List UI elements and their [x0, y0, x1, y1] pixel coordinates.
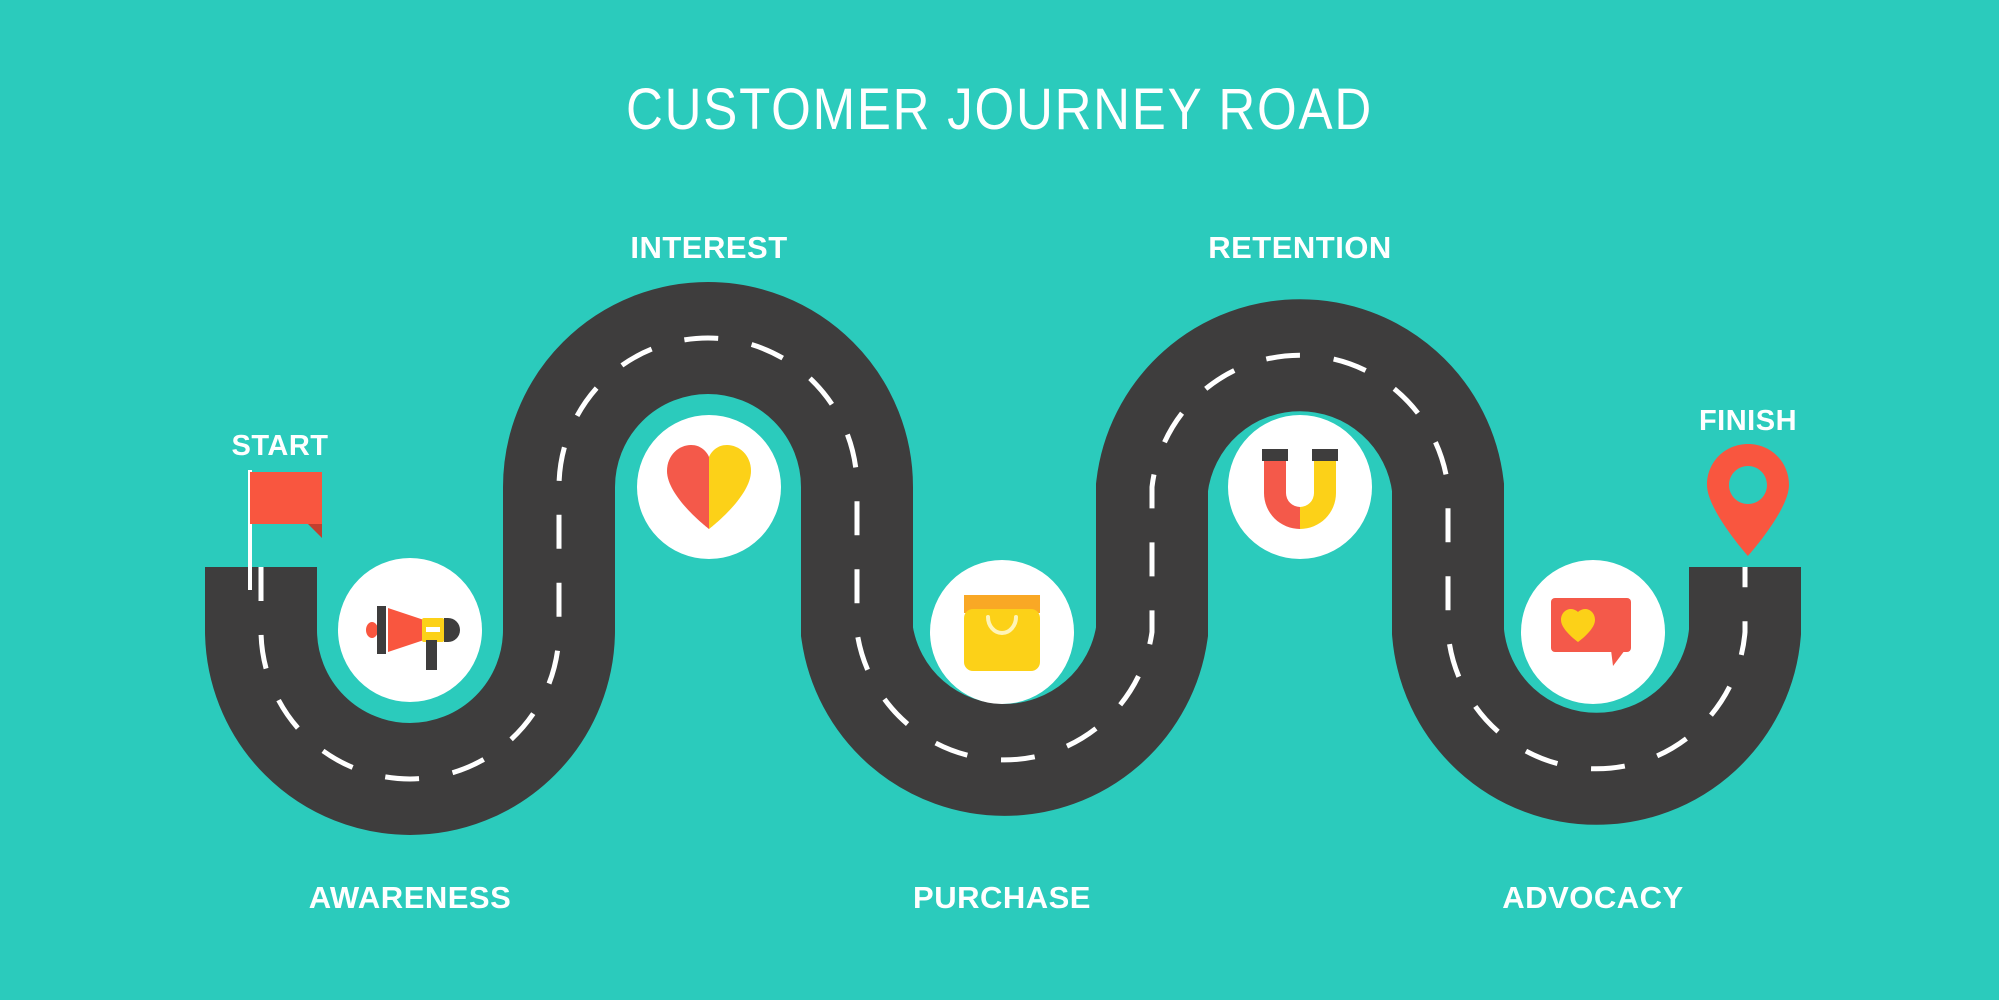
- stage-label-retention: RETENTION: [1208, 230, 1392, 266]
- stage-label-awareness: AWARENESS: [309, 880, 512, 916]
- stage-node-interest[interactable]: [637, 415, 781, 559]
- start-flag-group: [220, 470, 340, 595]
- stage-label-advocacy: ADVOCACY: [1502, 880, 1683, 916]
- shopping-bag-icon: [954, 587, 1050, 677]
- map-pin-icon: [1703, 440, 1793, 560]
- marker-label-start: START: [231, 430, 328, 463]
- megaphone-icon: [360, 580, 460, 680]
- stage-node-advocacy[interactable]: [1521, 560, 1665, 704]
- stage-label-interest: INTEREST: [630, 230, 787, 266]
- page-title: CUSTOMER JOURNEY ROAD: [120, 76, 1879, 143]
- stage-node-awareness[interactable]: [338, 558, 482, 702]
- chat-heart-icon: [1545, 592, 1641, 672]
- finish-pin-group: [1703, 440, 1793, 565]
- infographic-canvas: CUSTOMER JOURNEY ROAD START FINISH AWARE…: [0, 0, 1999, 1000]
- magnet-icon: [1254, 441, 1346, 533]
- marker-label-finish: FINISH: [1699, 405, 1797, 438]
- stage-node-retention[interactable]: [1228, 415, 1372, 559]
- stage-label-purchase: PURCHASE: [913, 880, 1091, 916]
- stage-node-purchase[interactable]: [930, 560, 1074, 704]
- heart-icon: [661, 441, 757, 533]
- flag-icon: [220, 470, 340, 590]
- road-surface: [261, 338, 1745, 779]
